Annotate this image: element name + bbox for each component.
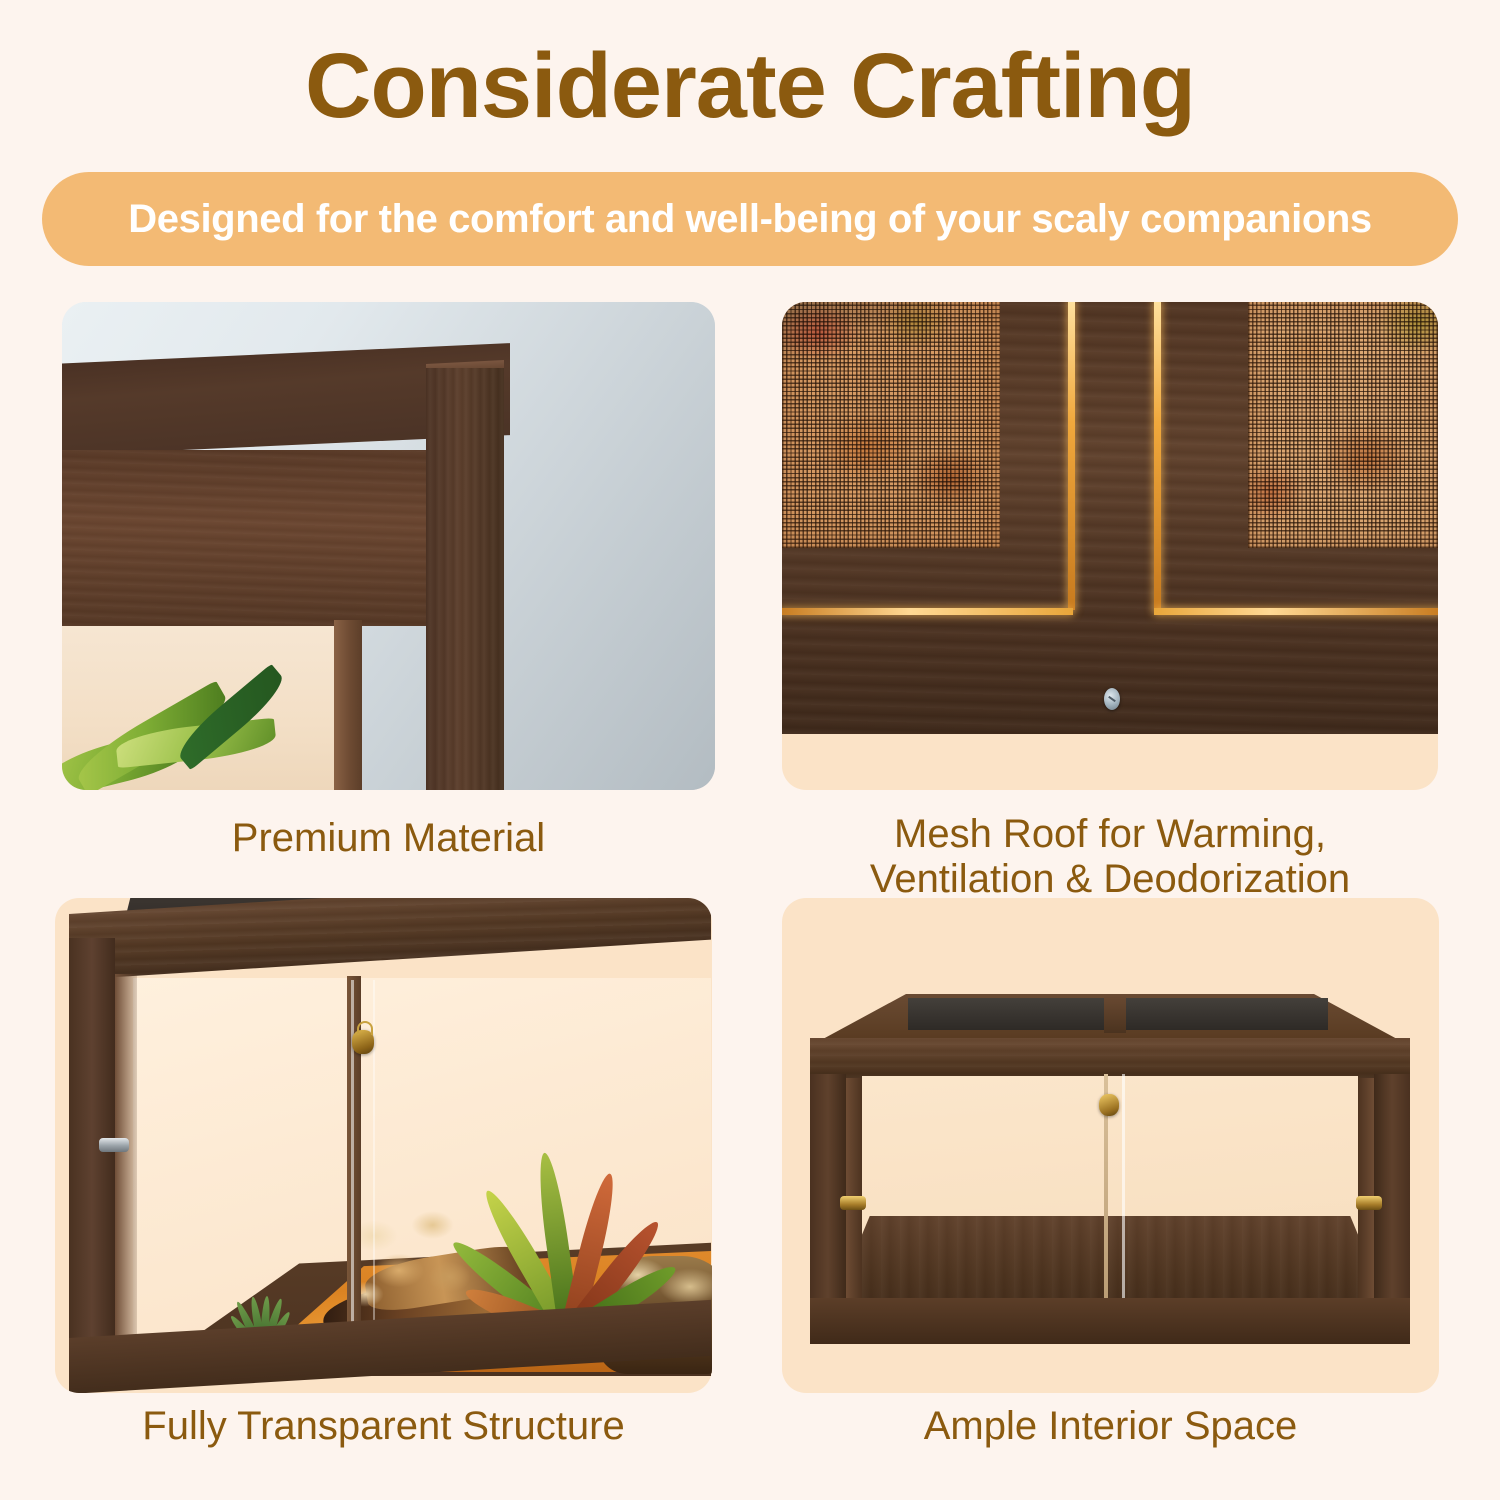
amber-light-seam xyxy=(782,608,1073,615)
infographic-page: Considerate Crafting Designed for the co… xyxy=(0,0,1500,1500)
brass-knob-center-icon xyxy=(1099,1094,1119,1116)
screw-icon xyxy=(1104,688,1120,710)
amber-light-seam xyxy=(1154,302,1161,610)
wood-stile-right xyxy=(1358,1078,1374,1310)
wood-post-vertical xyxy=(426,368,504,790)
brass-knob-right-icon xyxy=(1356,1196,1382,1210)
mesh-lid xyxy=(908,998,1328,1030)
amber-light-seam xyxy=(1154,608,1438,615)
hinge-knob xyxy=(99,1138,129,1152)
wood-stile-left xyxy=(846,1078,862,1310)
wood-rail-bottom xyxy=(810,1298,1410,1344)
feature-image-transparent-structure xyxy=(55,898,712,1393)
wood-inner-stile xyxy=(334,620,362,790)
wood-rail-top xyxy=(69,898,711,980)
brass-lock-icon xyxy=(352,1030,374,1054)
mesh-screen-left xyxy=(782,302,1000,548)
wood-rail-top xyxy=(810,1038,1410,1078)
caption-mesh-roof-line2: Ventilation & Deodorization xyxy=(760,857,1460,902)
caption-mesh-roof: Mesh Roof for Warming, Ventilation & Deo… xyxy=(760,812,1460,902)
caption-ample-interior: Ample Interior Space xyxy=(782,1404,1439,1449)
subtitle-banner: Designed for the comfort and well-being … xyxy=(42,172,1458,266)
page-title: Considerate Crafting xyxy=(0,34,1500,140)
amber-light-seam xyxy=(1068,302,1075,610)
caption-premium-material: Premium Material xyxy=(62,816,715,861)
subtitle-text: Designed for the comfort and well-being … xyxy=(128,197,1371,242)
caption-transparent-structure: Fully Transparent Structure xyxy=(55,1404,712,1449)
wood-frame-left xyxy=(69,938,115,1378)
caption-mesh-roof-line1: Mesh Roof for Warming, xyxy=(760,812,1460,857)
wood-stile-left xyxy=(115,974,137,1374)
feature-image-premium-material xyxy=(62,302,715,790)
glass-reflection xyxy=(1122,1074,1125,1316)
feature-image-mesh-roof xyxy=(782,302,1438,790)
brass-knob-left-icon xyxy=(840,1196,866,1210)
wood-slab-main xyxy=(62,450,426,626)
feature-image-ample-interior xyxy=(782,898,1439,1393)
mesh-screen-right xyxy=(1248,302,1438,548)
